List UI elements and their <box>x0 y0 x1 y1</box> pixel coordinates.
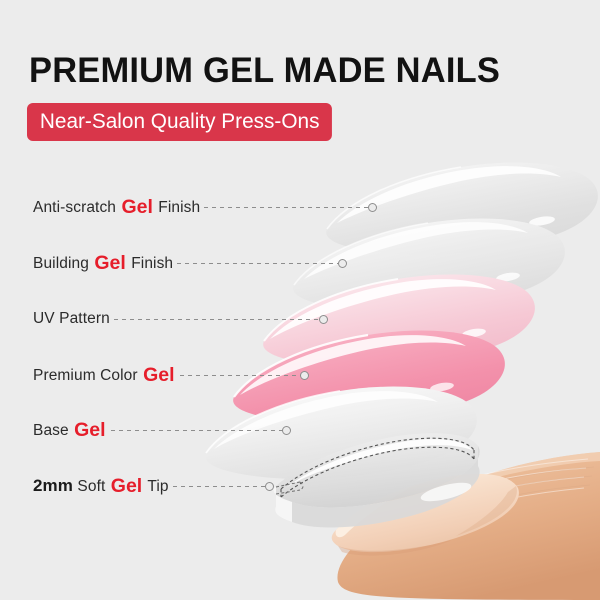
infographic-root: PREMIUM GEL MADE NAILS Near-Salon Qualit… <box>0 0 600 600</box>
leader-endpoint-premium-color-gel <box>300 371 309 380</box>
leader-line-anti-scratch-gel-finish <box>204 207 369 208</box>
callout-label-anti-scratch-gel-finish: Anti-scratch Gel Finish <box>33 196 200 219</box>
callout-label-base-gel: Base Gel <box>33 419 107 442</box>
page-title: PREMIUM GEL MADE NAILS <box>29 50 500 92</box>
leader-line-building-gel-finish <box>177 263 339 264</box>
subtitle-badge: Near-Salon Quality Press-Ons <box>27 103 332 141</box>
callout-label-premium-color-gel: Premium Color Gel <box>33 364 176 387</box>
callout-row-uv-pattern: UV Pattern <box>33 306 328 332</box>
leader-line-uv-pattern <box>114 319 320 320</box>
callout-label-uv-pattern: UV Pattern <box>33 310 110 328</box>
callout-label-building-gel-finish: Building Gel Finish <box>33 252 173 275</box>
callout-row-2mm-soft-gel-tip: 2mm Soft Gel Tip <box>33 473 274 499</box>
leader-endpoint-uv-pattern <box>319 315 328 324</box>
leader-line-premium-color-gel <box>180 375 302 376</box>
callout-row-anti-scratch-gel-finish: Anti-scratch Gel Finish <box>33 194 377 220</box>
leader-endpoint-2mm-soft-gel-tip <box>265 482 274 491</box>
leader-line-2mm-soft-gel-tip <box>173 486 266 487</box>
callout-label-2mm-soft-gel-tip: 2mm Soft Gel Tip <box>33 475 169 498</box>
callout-row-building-gel-finish: Building Gel Finish <box>33 250 347 276</box>
callout-row-premium-color-gel: Premium Color Gel <box>33 362 309 388</box>
leader-endpoint-anti-scratch-gel-finish <box>368 203 377 212</box>
callout-row-base-gel: Base Gel <box>33 417 291 443</box>
leader-endpoint-base-gel <box>282 426 291 435</box>
leader-line-base-gel <box>111 430 283 431</box>
leader-endpoint-building-gel-finish <box>338 259 347 268</box>
